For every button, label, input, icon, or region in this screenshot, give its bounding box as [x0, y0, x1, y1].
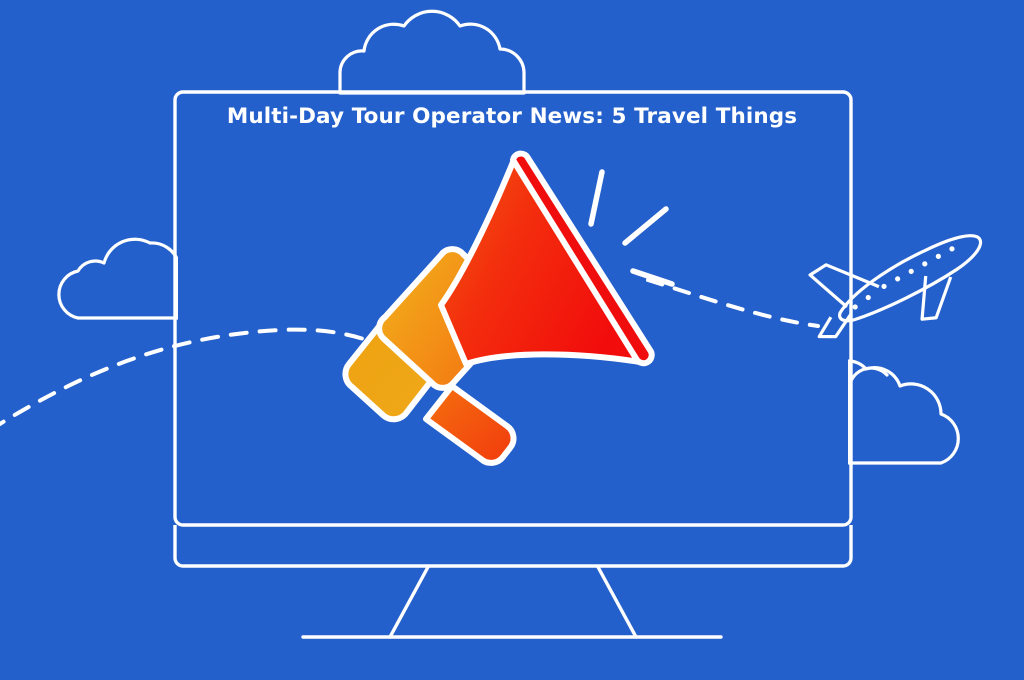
- illustration-canvas: Multi-Day Tour Operator News: 5 Travel T…: [0, 0, 1024, 680]
- cloud-top-icon: [340, 11, 524, 93]
- monitor-stand: [390, 567, 636, 637]
- airplane-tail-wing: [815, 312, 855, 340]
- dashed-path-right: [648, 280, 818, 326]
- megaphone-handle: [426, 386, 514, 463]
- cloud-left-icon: [59, 239, 178, 318]
- airplane-rear-fin: [912, 270, 959, 321]
- scene-artwork: [0, 0, 1024, 680]
- airplane-icon: [803, 227, 996, 346]
- airplane-main-wing: [809, 254, 882, 314]
- megaphone-icon: [345, 154, 672, 463]
- cloud-right-icon: [849, 361, 958, 463]
- megaphone-sound-lines: [591, 172, 672, 284]
- monitor-bezel-bottom: [175, 525, 851, 566]
